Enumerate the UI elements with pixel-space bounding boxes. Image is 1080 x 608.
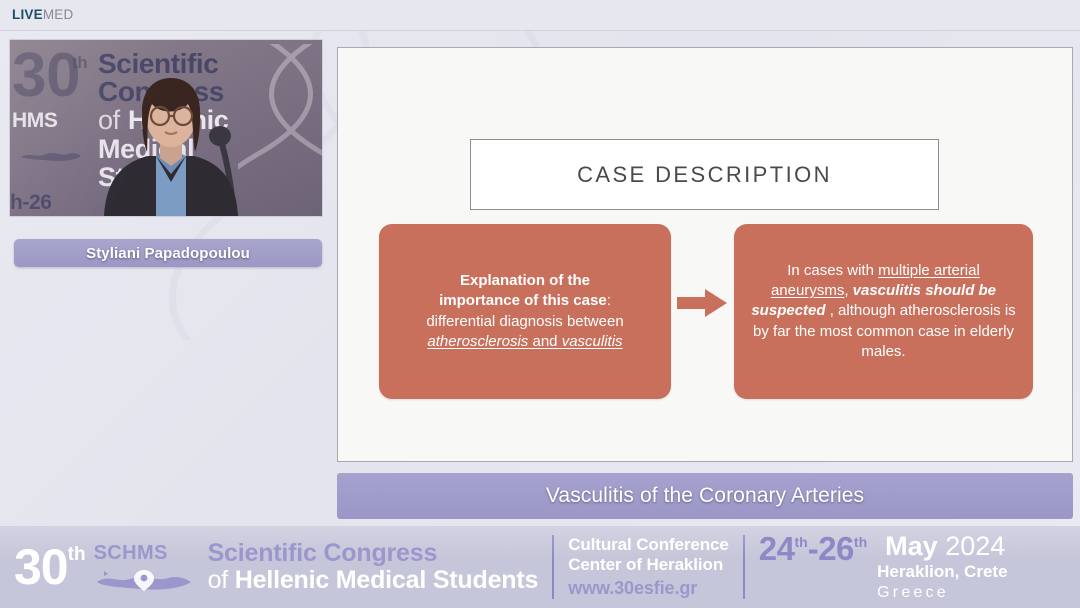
brand-logo[interactable]: LIVEMED [12, 7, 73, 22]
arrow-right-icon [675, 286, 733, 320]
flow-box-right-text: In cases with multiple arterial aneurysm… [748, 261, 1019, 361]
flow-arrow [675, 286, 733, 320]
slide-title: CASE DESCRIPTION [577, 162, 832, 188]
top-bar: LIVEMED [0, 0, 1080, 31]
footer-date-end-ordinal: th [854, 534, 867, 550]
footer-title-line1: Scientific Congress [208, 540, 539, 568]
flow-box-left: Explanation of the importance of this ca… [379, 224, 671, 399]
flow-box-left-text: Explanation of the importance of this ca… [426, 271, 623, 351]
footer-title-line2-light: of [208, 566, 235, 594]
session-title: Vasculitis of the Coronary Arteries [546, 484, 864, 508]
session-title-bar: Vasculitis of the Coronary Arteries [337, 473, 1073, 519]
footer-logo-block: 30 th SCHMS Scientific Congress of Helle… [0, 526, 538, 608]
backdrop-ordinal: th [72, 54, 87, 71]
backdrop-dates: h-26 [10, 192, 52, 213]
footer-venue-line1: Cultural Conference [568, 535, 729, 555]
video-frame: 30 th HMS Scientific Congress of Helleni… [10, 40, 322, 216]
footer-website-link[interactable]: www.30esfie.gr [568, 578, 729, 599]
left-plain-line: differential diagnosis between [426, 313, 623, 330]
footer-divider-1 [552, 535, 554, 599]
footer-venue-block: Cultural Conference Center of Heraklion … [568, 526, 729, 608]
footer-date-separator: - [808, 532, 819, 565]
footer-schms-block: SCHMS [94, 542, 198, 593]
footer-city: Heraklion, Crete [877, 562, 1007, 582]
backdrop-number: 30 [12, 44, 80, 107]
footer-divider-2 [743, 535, 745, 599]
footer-dates: 24 th - 26 th May 2024 Heraklion, Crete … [759, 532, 1008, 602]
conference-footer: 30 th SCHMS Scientific Congress of Helle… [0, 526, 1080, 608]
footer-edition-ordinal: th [68, 544, 86, 566]
footer-title-line2-bold: Hellenic Medical Students [235, 566, 538, 594]
speaker-silhouette [98, 74, 244, 216]
slide-flow-diagram: Explanation of the importance of this ca… [338, 224, 1074, 399]
footer-date-row: 24 th - 26 th May 2024 Heraklion, Crete … [759, 532, 1008, 602]
footer-country: Greece [877, 583, 1007, 602]
footer-date-block: 24 th - 26 th May 2024 Heraklion, Crete … [759, 526, 1008, 608]
left-term-2: vasculitis [562, 333, 623, 350]
left-bold-line1: Explanation of the [460, 272, 590, 289]
footer-date-right: May 2024 Heraklion, Crete Greece [877, 532, 1007, 602]
footer-title-block: Scientific Congress of Hellenic Medical … [208, 540, 539, 595]
crete-map-icon [94, 567, 194, 593]
backdrop-crete-icon [20, 144, 82, 166]
footer-date-end: 26 [818, 532, 854, 565]
footer-venue-line2: Center of Heraklion [568, 555, 729, 575]
speaker-name-plate: Styliani Papadopoulou [14, 239, 322, 267]
footer-edition-number: 30 [14, 542, 68, 592]
footer-title-line2: of Hellenic Medical Students [208, 567, 539, 595]
speaker-name: Styliani Papadopoulou [86, 245, 250, 262]
footer-date-start-ordinal: th [794, 534, 807, 550]
flow-box-right: In cases with multiple arterial aneurysm… [734, 224, 1033, 399]
right-lead: In cases with [787, 262, 878, 279]
footer-date-start: 24 [759, 532, 795, 565]
slide-title-box: CASE DESCRIPTION [470, 139, 939, 210]
slide-canvas: CASE DESCRIPTION Explanation of the impo… [337, 47, 1073, 462]
left-colon: : [607, 292, 611, 309]
brand-logo-primary: LIVE [12, 7, 43, 22]
backdrop-dna-icon [238, 44, 322, 214]
left-term-1: atherosclerosis [427, 333, 528, 350]
backdrop-year: 2024 [14, 214, 57, 216]
footer-schms-label: SCHMS [94, 542, 198, 565]
footer-venue: Cultural Conference Center of Heraklion … [568, 535, 729, 599]
footer-month: May [885, 531, 938, 561]
footer-month-year: May 2024 [885, 532, 1007, 560]
left-bold-line2: importance of this case [439, 292, 607, 309]
backdrop-schms: HMS [12, 110, 57, 131]
left-conjunction: and [528, 333, 561, 350]
footer-year: 2024 [945, 531, 1005, 561]
player-page: LIVEMED 30 th HMS Scientific Congress of… [0, 0, 1080, 608]
right-comma: , [844, 282, 852, 299]
speaker-video[interactable]: 30 th HMS Scientific Congress of Helleni… [10, 40, 322, 216]
brand-logo-secondary: MED [43, 7, 74, 22]
